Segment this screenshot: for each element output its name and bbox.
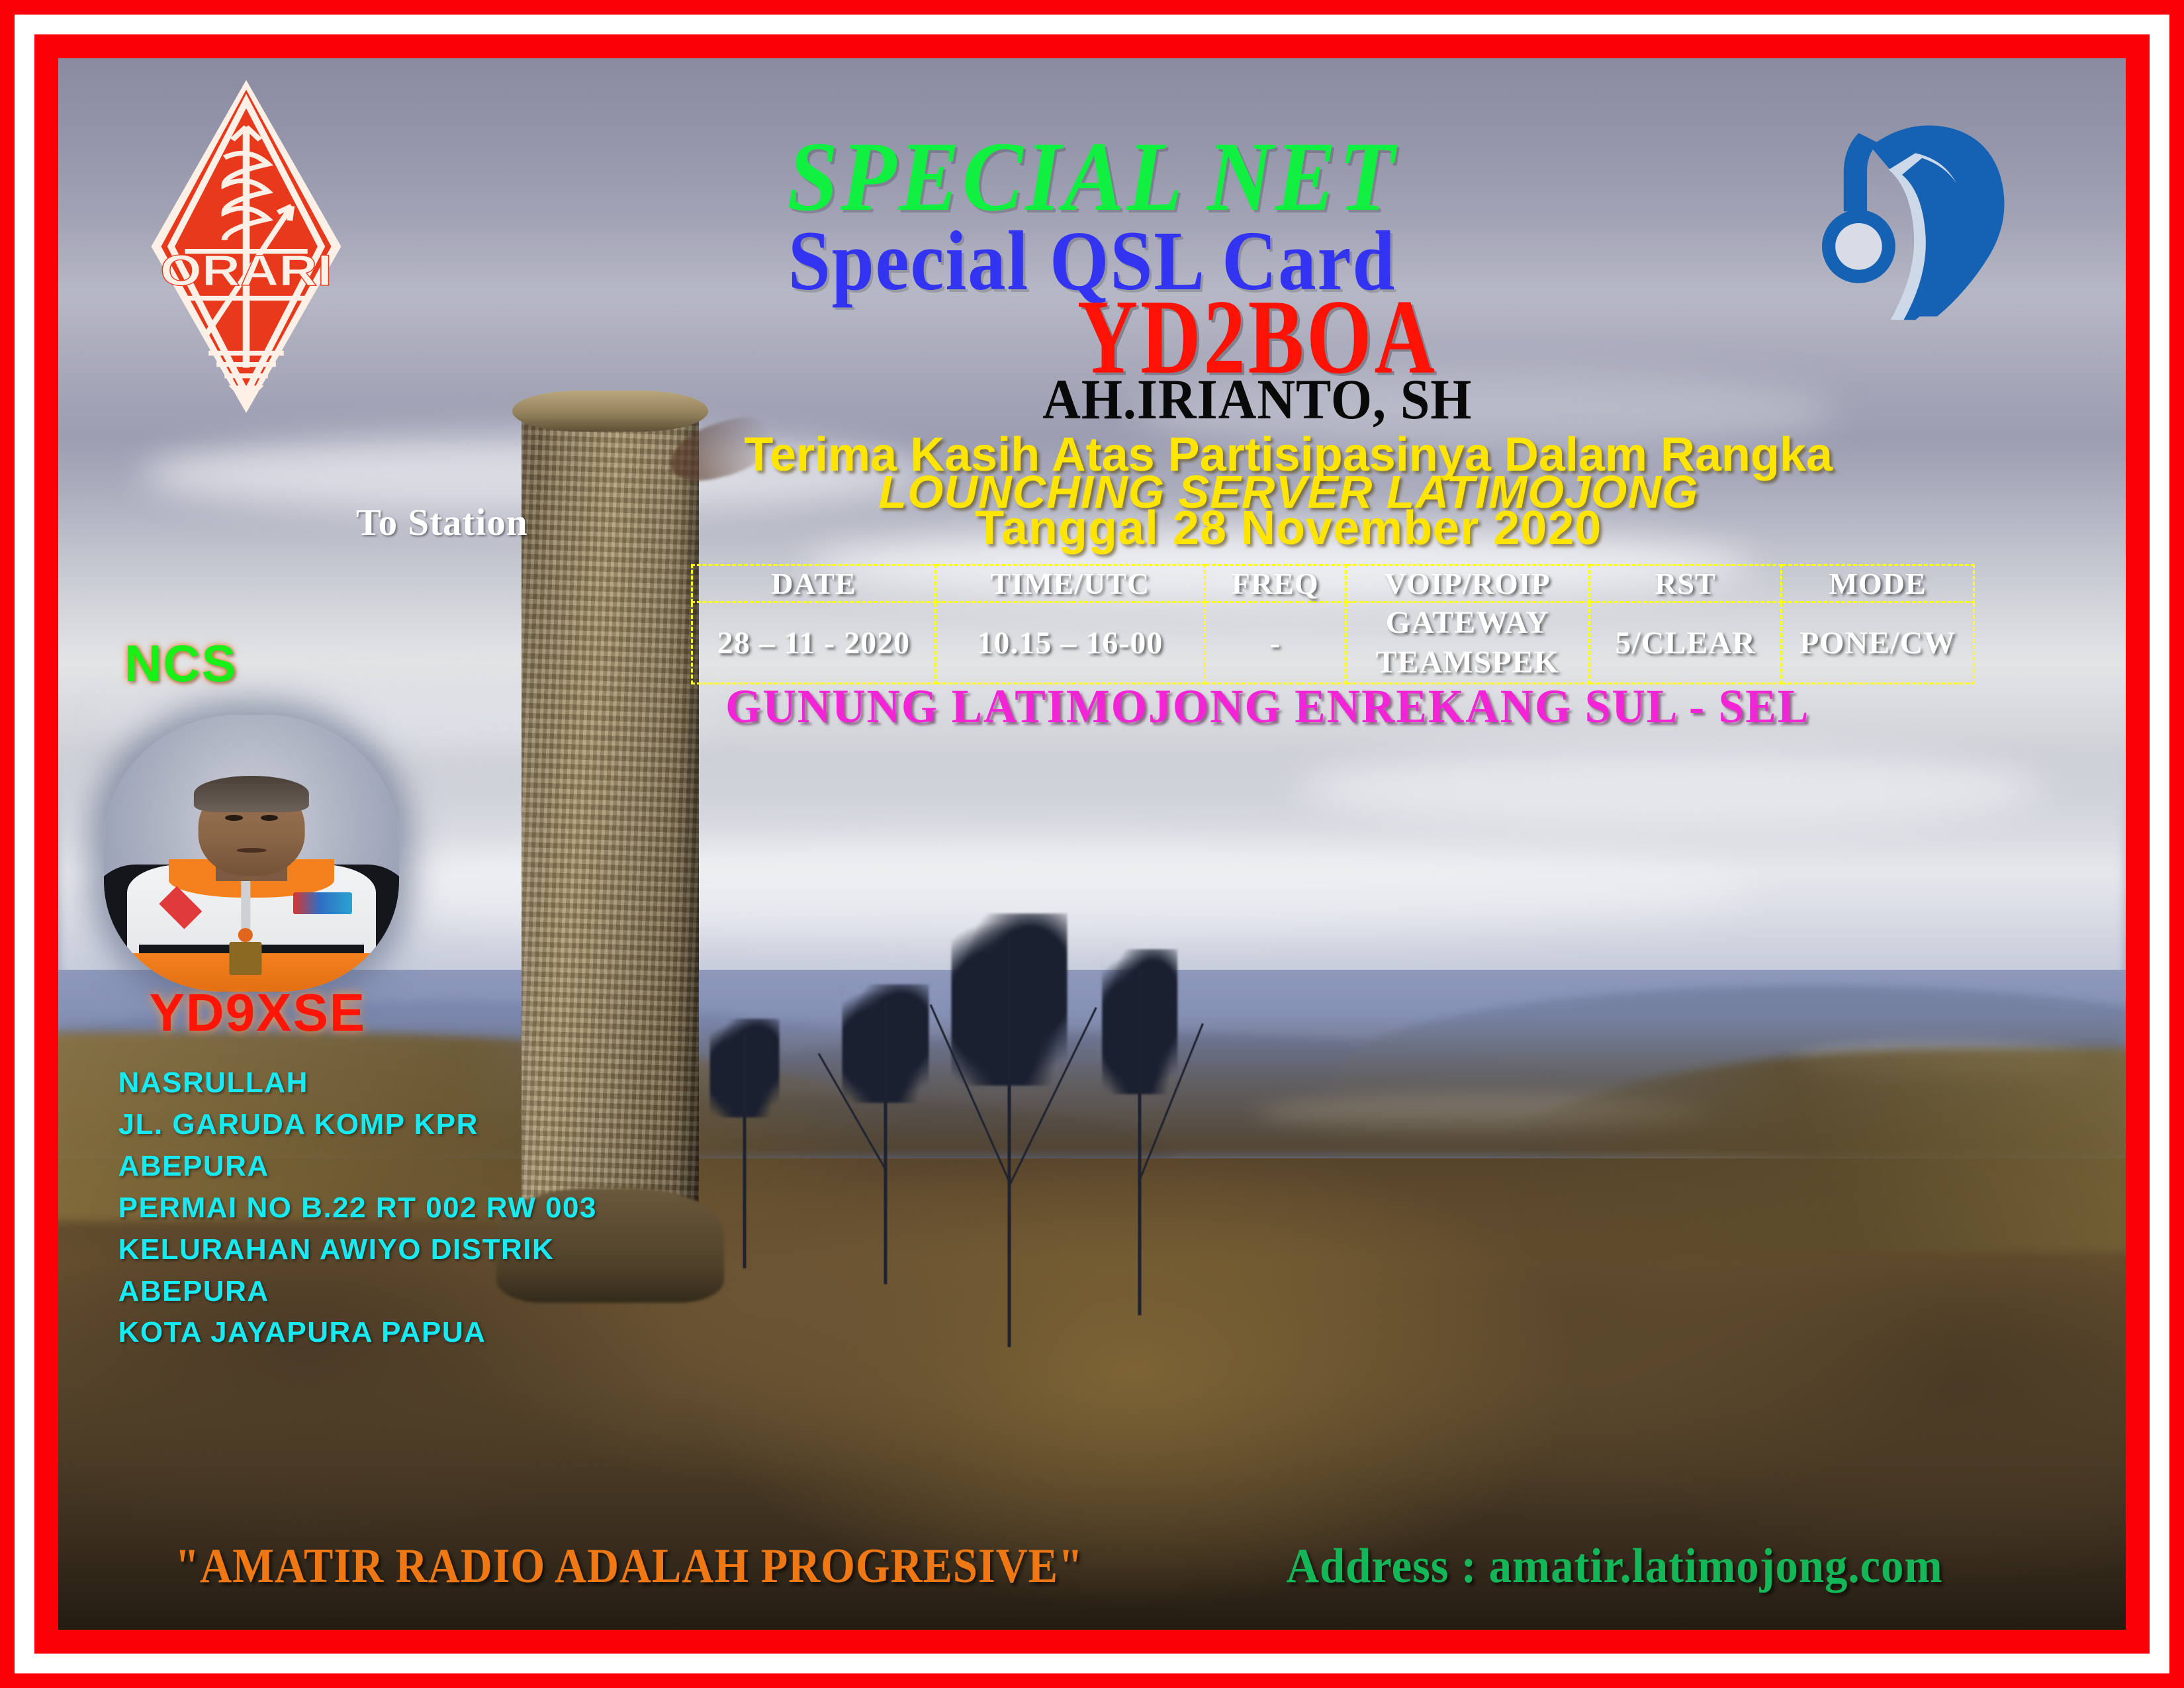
ncs-address-block: NASRULLAH JL. GARUDA KOMP KPR ABEPURA PE… [118, 1062, 597, 1354]
table-header-row: DATE TIME/UTC FREQ VOIP/ROIP RST MODE [692, 565, 1974, 602]
cell-mode: PONE/CW [1782, 602, 1974, 684]
tree-silhouette [720, 1033, 770, 1268]
column-header-time: TIME/UTC [935, 565, 1205, 602]
address-line: KELURAHAN AWIYO DISTRIK [118, 1229, 597, 1271]
tree-silhouette [968, 938, 1051, 1346]
cell-date: 28 – 11 - 2020 [692, 602, 935, 684]
column-header-mode: MODE [1782, 565, 1974, 602]
cell-freq: - [1205, 602, 1345, 684]
tree-silhouette [1113, 970, 1166, 1315]
ncs-callsign: YD9XSE [149, 982, 366, 1043]
event-date-text: Tanggal 28 November 2020 [689, 501, 1888, 555]
to-station-label: To Station [356, 501, 528, 544]
address-line: ABEPURA [118, 1146, 597, 1188]
column-header-voip: VOIP/ROIP [1345, 565, 1589, 602]
address-line: PERMAI NO B.22 RT 002 RW 003 [118, 1188, 597, 1229]
address-line: JL. GARUDA KOMP KPR [118, 1104, 597, 1146]
footer-website-address: Address : amatir.latimojong.com [1286, 1538, 1942, 1595]
column-header-date: DATE [692, 565, 935, 602]
qso-log-table: DATE TIME/UTC FREQ VOIP/ROIP RST MODE 28… [691, 564, 1975, 655]
to-station-operator-name: AH.IRIANTO, SH [796, 366, 1719, 432]
column-header-rst: RST [1589, 565, 1782, 602]
address-line: KOTA JAYAPURA PAPUA [118, 1312, 597, 1354]
tree-silhouette [854, 1001, 917, 1284]
address-line: NASRULLAH [118, 1062, 597, 1104]
event-location-text: GUNUNG LATIMOJONG ENREKANG SUL - SEL [666, 679, 1869, 734]
ncs-operator-photo [104, 715, 400, 992]
column-header-freq: FREQ [1205, 565, 1345, 602]
qsl-card: ORARI SPECIAL NET Special QSL Card To St… [0, 0, 2184, 1688]
cell-voip: GATEWAY TEAMSPEK [1345, 602, 1589, 684]
footer-motto: "AMATIR RADIO ADALAH PROGRESIVE" [175, 1538, 1083, 1595]
address-line: ABEPURA [118, 1271, 597, 1313]
cell-time: 10.15 – 16-00 [935, 602, 1205, 684]
cell-rst: 5/CLEAR [1589, 602, 1782, 684]
cell-voip-line2: TEAMSPEK [1347, 643, 1588, 682]
card-photo-background: ORARI SPECIAL NET Special QSL Card To St… [58, 58, 2126, 1630]
ncs-label: NCS [124, 633, 238, 694]
cell-voip-line1: GATEWAY [1347, 603, 1588, 643]
table-row: 28 – 11 - 2020 10.15 – 16-00 - GATEWAY T… [692, 602, 1974, 684]
